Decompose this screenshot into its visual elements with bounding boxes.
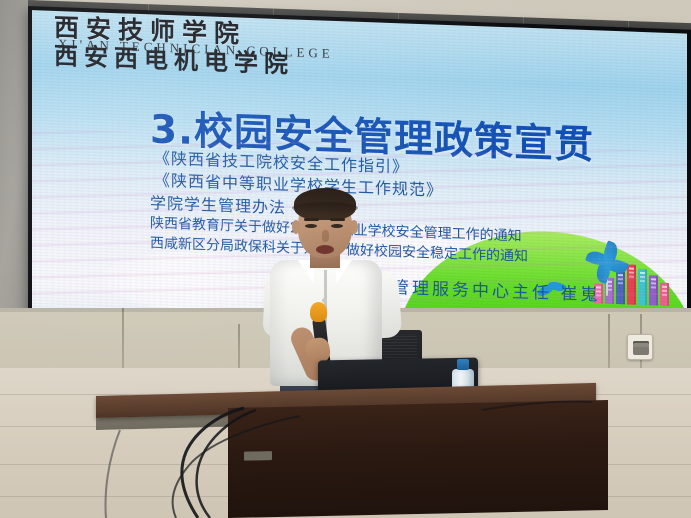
eye-left xyxy=(305,224,317,228)
podium-front xyxy=(228,400,608,518)
eye-right xyxy=(331,224,343,228)
ear-right xyxy=(350,220,358,234)
book-teal xyxy=(638,269,647,305)
mouth xyxy=(316,245,334,254)
slide-bullet-list: 《陕西省技工院校安全工作指引》 《陕西省中等职业学校学生工作规范》 学院学生管理… xyxy=(154,148,687,274)
desk-plaque xyxy=(244,451,272,461)
book-purple xyxy=(649,275,658,305)
ear-left xyxy=(292,220,300,234)
lecture-hall-photo: 西安技师学院 XI'AN TECHNICIAN COLLEGE 西安西电机电学院… xyxy=(0,0,691,518)
slide-header: 西安技师学院 XI'AN TECHNICIAN COLLEGE 西安西电机电学院 xyxy=(54,15,414,81)
microphone-head xyxy=(310,302,327,322)
book-rose xyxy=(660,283,669,306)
eyebrow-right xyxy=(330,218,345,221)
eyebrow-left xyxy=(304,218,319,221)
wall-outlet-plate xyxy=(627,334,653,360)
nose xyxy=(322,230,329,242)
hair xyxy=(294,188,356,220)
